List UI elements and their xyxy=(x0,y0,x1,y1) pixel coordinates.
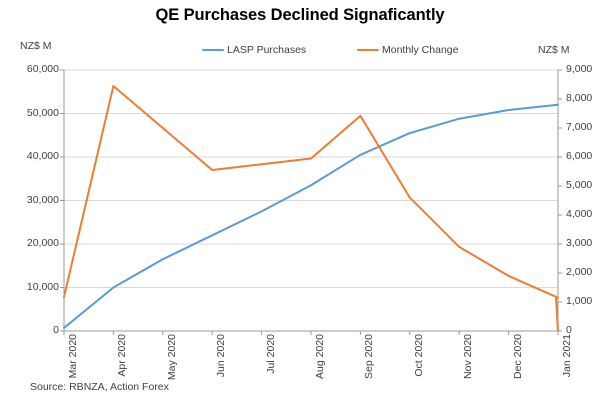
right-axis-tick-label: 1,000 xyxy=(566,296,600,307)
category-label: Apr 2020 xyxy=(117,334,128,377)
chart-container: QE Purchases Declined Signaficantly NZ$ … xyxy=(0,0,600,402)
left-axis-tick-label: 0 xyxy=(13,325,59,336)
category-axis-labels: Mar 2020Apr 2020May 2020Jun 2020Jul 2020… xyxy=(64,334,558,380)
right-axis-tick-label: 5,000 xyxy=(566,180,600,191)
category-label-text: Sep 2020 xyxy=(364,334,375,379)
left-axis-tick-label: 30,000 xyxy=(13,195,59,206)
category-label-text: May 2020 xyxy=(167,334,178,380)
legend-item-monthly-change[interactable]: Monthly Change xyxy=(357,44,458,56)
category-label: Jun 2020 xyxy=(216,334,227,377)
series-line-monthly-change xyxy=(64,86,558,298)
right-axis-tick-label: 6,000 xyxy=(566,151,600,162)
legend-label-monthly-change: Monthly Change xyxy=(382,44,458,56)
plot-area xyxy=(64,70,558,331)
left-axis-tick-label: 10,000 xyxy=(13,282,59,293)
legend-swatch-lasp-purchases xyxy=(202,49,224,52)
category-label: May 2020 xyxy=(167,334,178,380)
chart-legend: LASP Purchases Monthly Change xyxy=(0,44,600,60)
category-label-text: Mar 2020 xyxy=(68,334,79,378)
category-label: Oct 2020 xyxy=(414,334,425,377)
source-note: Source: RBNZA, Action Forex xyxy=(30,381,169,393)
right-axis-tick-label: 7,000 xyxy=(566,122,600,133)
left-axis-tick-label: 20,000 xyxy=(13,238,59,249)
category-label-text: Jan 2021 xyxy=(562,334,573,377)
left-axis-tick-label: 50,000 xyxy=(13,108,59,119)
category-label: Jul 2020 xyxy=(266,334,277,374)
right-axis-tick-label: 2,000 xyxy=(566,267,600,278)
legend-label-lasp-purchases: LASP Purchases xyxy=(227,44,306,56)
category-label: Nov 2020 xyxy=(463,334,474,379)
left-axis-tick-label: 60,000 xyxy=(13,64,59,75)
category-label-text: Nov 2020 xyxy=(463,334,474,379)
gridlines xyxy=(64,70,558,331)
right-axis-tick-label: 3,000 xyxy=(566,238,600,249)
legend-swatch-monthly-change xyxy=(357,49,379,52)
plot-svg xyxy=(64,70,558,331)
right-axis-tick-label: 9,000 xyxy=(566,64,600,75)
legend-item-lasp-purchases[interactable]: LASP Purchases xyxy=(202,44,306,56)
category-label-text: Jul 2020 xyxy=(266,334,277,374)
category-label-text: Aug 2020 xyxy=(315,334,326,379)
category-label: Jan 2021 xyxy=(562,334,573,377)
category-label: Mar 2020 xyxy=(68,334,79,378)
series-lines xyxy=(64,86,558,331)
right-axis-ticks xyxy=(558,70,562,331)
left-axis-tick-label: 40,000 xyxy=(13,151,59,162)
category-label: Dec 2020 xyxy=(513,334,524,379)
series-line-lasp-purchases xyxy=(64,105,558,328)
left-axis-ticks xyxy=(60,70,64,331)
chart-title: QE Purchases Declined Signaficantly xyxy=(0,6,600,25)
category-label-text: Apr 2020 xyxy=(117,334,128,377)
category-label-text: Jun 2020 xyxy=(216,334,227,377)
right-axis-tick-label: 8,000 xyxy=(566,93,600,104)
category-label: Sep 2020 xyxy=(364,334,375,379)
category-label: Aug 2020 xyxy=(315,334,326,379)
category-label-text: Oct 2020 xyxy=(414,334,425,377)
right-axis-tick-label: 4,000 xyxy=(566,209,600,220)
category-label-text: Dec 2020 xyxy=(513,334,524,379)
